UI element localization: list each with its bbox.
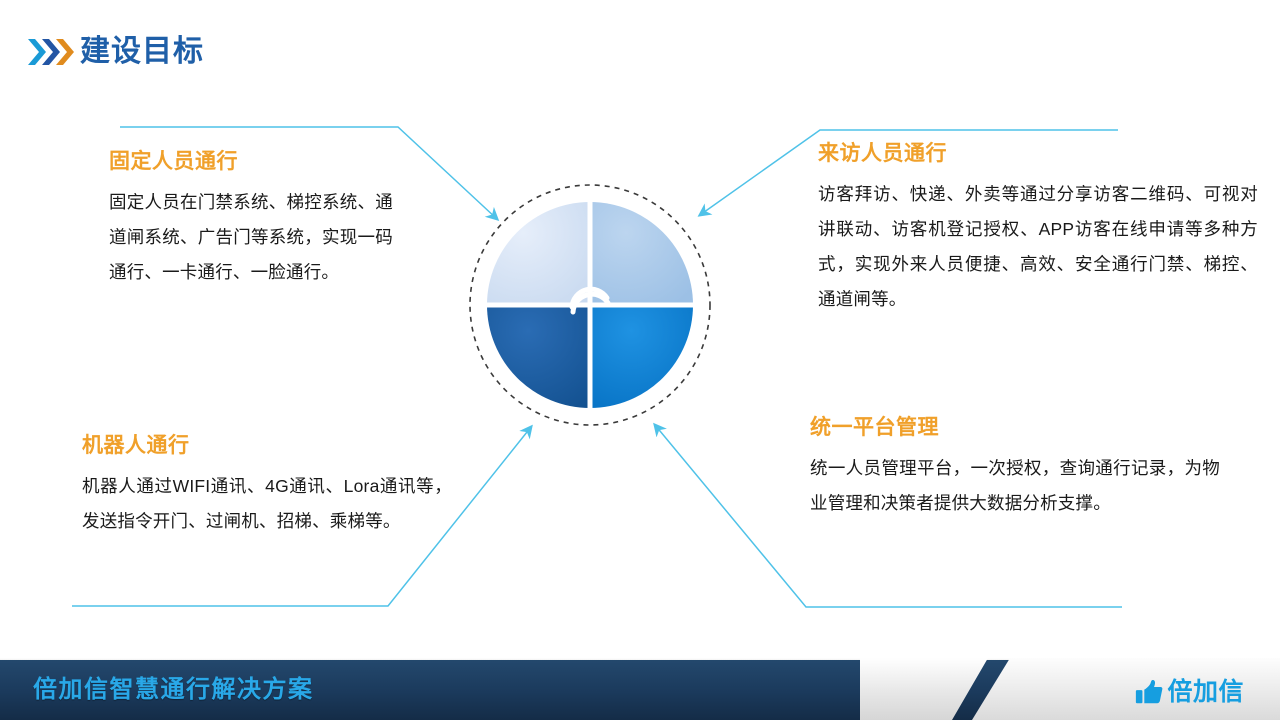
quadrant-bottom-left	[487, 305, 590, 408]
hub-graphic	[465, 180, 715, 430]
footer-left-text: 倍加信智慧通行解决方案	[33, 673, 314, 707]
slide-header: 建设目标	[0, 0, 1280, 95]
block-body: 访客拜访、快递、外卖等通过分享访客二维码、可视对讲联动、访客机登记授权、APP访…	[818, 177, 1258, 317]
block-body: 统一人员管理平台，一次授权，查询通行记录，为物业管理和决策者提供大数据分析支撑。	[810, 451, 1220, 521]
footer-brand-text: 倍加信	[1167, 676, 1244, 708]
block-heading: 统一平台管理	[810, 414, 1220, 442]
slide-footer: 倍加信智慧通行解决方案 倍加信	[0, 658, 1280, 720]
block-fixed-personnel: 固定人员通行 固定人员在门禁系统、梯控系统、通道闸系统、广告门等系统，实现一码通…	[103, 148, 393, 290]
quadrant-dividers	[485, 200, 695, 410]
footer-brand-logo: 倍加信	[1134, 676, 1244, 708]
block-unified-platform: 统一平台管理 统一人员管理平台，一次授权，查询通行记录，为物业管理和决策者提供大…	[810, 414, 1220, 521]
block-body: 固定人员在门禁系统、梯控系统、通道闸系统、广告门等系统，实现一码通行、一卡通行、…	[109, 185, 393, 290]
quadrant-top-right	[590, 202, 693, 305]
thumbs-up-icon	[1134, 677, 1164, 707]
block-heading: 固定人员通行	[109, 148, 393, 176]
block-visitor-personnel: 来访人员通行 访客拜访、快递、外卖等通过分享访客二维码、可视对讲联动、访客机登记…	[818, 140, 1258, 317]
slide-canvas: 建设目标	[0, 0, 1280, 720]
block-heading: 来访人员通行	[818, 140, 1258, 168]
triple-chevron-icon	[26, 36, 78, 68]
block-heading: 机器人通行	[82, 432, 452, 460]
footer-shape-left	[860, 658, 988, 720]
block-robot-passage: 机器人通行 机器人通过WIFI通讯、4G通讯、Lora通讯等，发送指令开门、过闸…	[82, 432, 452, 539]
quadrant-top-left	[487, 202, 590, 305]
page-title: 建设目标	[80, 32, 204, 72]
quadrant-bottom-right	[590, 305, 693, 408]
block-body: 机器人通过WIFI通讯、4G通讯、Lora通讯等，发送指令开门、过闸机、招梯、乘…	[82, 469, 452, 539]
